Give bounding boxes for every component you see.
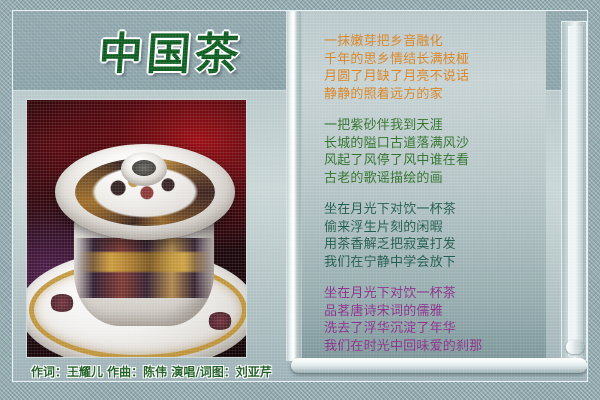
credits-text: 作词：王耀儿 作曲：陈伟 演唱/词图：刘亚芹 [31, 363, 272, 380]
lyrics-line: 我们在宁静中学会放下 [324, 254, 538, 272]
lyrics-verse: 一把紫砂伴我到天涯 长城的隘口古道落满风沙 风起了风停了风中谁在看 古老的歌谣描… [324, 117, 538, 187]
lyrics-line: 一抹嫩芽把乡音融化 [324, 33, 538, 51]
lyrics-line: 月圆了月缺了月亮不说话 [324, 68, 538, 86]
vertical-scrollbar[interactable] [561, 21, 587, 361]
lyrics-line: 千年的思乡情结长满枝桠 [324, 51, 538, 69]
credits-bar: 作词：王耀儿 作曲：陈伟 演唱/词图：刘亚芹 [13, 361, 588, 382]
lid-knob [121, 152, 167, 186]
lyrics-line: 坐在月光下对饮一杯茶 [324, 285, 538, 303]
lyrics-line: 坐在月光下对饮一杯茶 [324, 201, 538, 219]
content-card: 中国茶 [12, 10, 588, 382]
lyrics-verse: 一抹嫩芽把乡音融化 千年的思乡情结长满枝桠 月圆了月缺了月亮不说话 静静的照着远… [324, 33, 538, 103]
page-background: 中国茶 [0, 0, 600, 400]
lyrics-verse: 坐在月光下对饮一杯茶 品茗唐诗宋词的儒雅 洗去了浮华沉淀了年华 我们在时光中回味… [324, 285, 538, 355]
lyrics-line: 品茗唐诗宋词的儒雅 [324, 303, 538, 321]
lyrics-line: 洗去了浮华沉淀了年华 [324, 320, 538, 338]
scrollbar-thumb[interactable] [566, 340, 584, 354]
lyrics-panel: 一抹嫩芽把乡音融化 千年的思乡情结长满枝桠 月圆了月缺了月亮不说话 静静的照着远… [302, 11, 546, 361]
lyrics-line: 用茶香解乏把寂寞打发 [324, 236, 538, 254]
page-title: 中国茶 [79, 19, 263, 81]
lyrics-verse: 坐在月光下对饮一杯茶 偷来浮生片刻的闲暇 用茶香解乏把寂寞打发 我们在宁静中学会… [324, 201, 538, 271]
lyrics-line: 我们在时光中回味爱的刹那 [324, 338, 538, 356]
saucer-motif [49, 294, 75, 312]
cup-gold-band [78, 252, 210, 272]
scrollbar-track[interactable] [568, 26, 584, 356]
lyrics-line: 古老的歌谣描绘的画 [324, 170, 538, 188]
tea-photo [26, 99, 247, 358]
saucer-motif [207, 312, 233, 330]
lyrics-line: 风起了风停了风中谁在看 [324, 152, 538, 170]
lyrics-line: 静静的照着远方的家 [324, 86, 538, 104]
lyrics-line: 偷来浮生片刻的闲暇 [324, 219, 538, 237]
lyrics-list: 一抹嫩芽把乡音融化 千年的思乡情结长满枝桠 月圆了月缺了月亮不说话 静静的照着远… [324, 33, 538, 361]
lyrics-line: 长城的隘口古道落满风沙 [324, 135, 538, 153]
lyrics-line: 一把紫砂伴我到天涯 [324, 117, 538, 135]
